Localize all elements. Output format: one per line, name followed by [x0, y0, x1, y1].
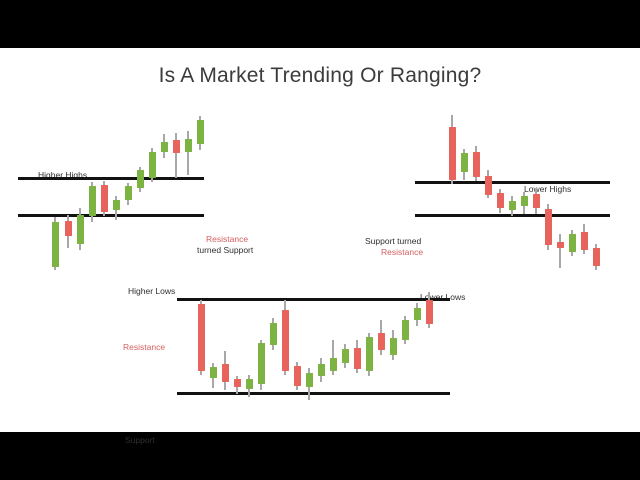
- candle-body-down: [497, 193, 504, 208]
- candle-wick: [559, 234, 561, 268]
- label-higher-lows: Higher Lows: [128, 286, 175, 296]
- candle-body-up: [390, 338, 397, 355]
- label-range-support: Support: [125, 435, 155, 445]
- candle-body-down: [354, 348, 361, 369]
- candle-body-down: [581, 232, 588, 250]
- candlestick: [149, 148, 156, 182]
- candlestick: [318, 358, 325, 382]
- level-line-range-support: [177, 392, 450, 395]
- candlestick: [294, 362, 301, 390]
- candle-body-up: [270, 323, 277, 345]
- letterbox-top: [0, 0, 640, 48]
- candlestick: [414, 303, 421, 326]
- candle-body-up: [318, 364, 325, 376]
- candle-body-down: [222, 364, 229, 382]
- candle-body-up: [210, 367, 217, 378]
- candle-body-down: [234, 379, 241, 387]
- candle-body-up: [330, 358, 337, 371]
- candlestick: [378, 320, 385, 355]
- page-title: Is A Market Trending Or Ranging?: [0, 64, 640, 88]
- label-resistance-uptrend: Resistance: [206, 234, 248, 244]
- candlestick: [545, 204, 552, 250]
- candle-body-down: [378, 333, 385, 350]
- candle-body-down: [485, 176, 492, 195]
- label-support-turned: Support turned: [365, 236, 421, 246]
- candlestick: [449, 115, 456, 184]
- candlestick: [185, 131, 192, 175]
- candlestick: [461, 149, 468, 180]
- candlestick: [282, 300, 289, 375]
- candlestick: [101, 181, 108, 216]
- candlestick: [197, 116, 204, 150]
- candlestick: [77, 208, 84, 250]
- candlestick: [593, 244, 600, 270]
- candlestick: [258, 340, 265, 390]
- candle-body-up: [414, 308, 421, 320]
- candle-body-up: [258, 343, 265, 384]
- candlestick: [52, 217, 59, 270]
- candlestick: [65, 215, 72, 248]
- candle-body-up: [521, 196, 528, 206]
- candlestick: [342, 344, 349, 368]
- candle-body-up: [77, 215, 84, 244]
- candle-body-up: [113, 200, 120, 210]
- candle-body-up: [306, 373, 313, 387]
- candle-body-down: [426, 300, 433, 324]
- label-lower-highs: Lower Highs: [524, 184, 571, 194]
- candle-body-up: [161, 142, 168, 152]
- candle-body-up: [342, 349, 349, 363]
- slide-canvas: Is A Market Trending Or Ranging? Higher …: [0, 48, 640, 432]
- candlestick: [113, 196, 120, 220]
- candle-body-up: [185, 139, 192, 152]
- candle-body-down: [533, 194, 540, 208]
- candle-body-up: [366, 337, 373, 371]
- candlestick: [222, 351, 229, 390]
- candlestick: [557, 234, 564, 268]
- label-range-resistance: Resistance: [123, 342, 165, 352]
- candlestick: [402, 316, 409, 344]
- candle-wick: [187, 131, 189, 175]
- candlestick: [137, 167, 144, 192]
- candle-body-up: [89, 186, 96, 216]
- label-resistance-downtrend: Resistance: [381, 247, 423, 257]
- candlestick: [125, 183, 132, 205]
- candle-body-up: [125, 186, 132, 200]
- candlestick: [234, 376, 241, 394]
- candle-body-down: [198, 304, 205, 371]
- candlestick: [509, 196, 516, 216]
- candle-body-down: [473, 152, 480, 177]
- candlestick: [270, 318, 277, 350]
- candlestick: [581, 224, 588, 254]
- candle-body-up: [246, 379, 253, 389]
- candle-body-down: [557, 242, 564, 248]
- candlestick: [354, 340, 361, 373]
- candle-body-down: [294, 366, 301, 386]
- candle-body-down: [173, 140, 180, 153]
- candle-body-up: [569, 234, 576, 252]
- candlestick: [366, 333, 373, 376]
- candlestick: [173, 133, 180, 178]
- candle-body-down: [545, 209, 552, 245]
- candle-body-down: [65, 221, 72, 236]
- label-turned-support: turned Support: [197, 245, 253, 255]
- candlestick: [569, 230, 576, 256]
- candlestick: [89, 182, 96, 222]
- candle-body-up: [137, 170, 144, 188]
- candle-body-up: [402, 320, 409, 340]
- candlestick: [161, 134, 168, 158]
- candle-body-down: [593, 248, 600, 266]
- candlestick: [497, 189, 504, 213]
- candlestick: [473, 146, 480, 181]
- candlestick: [246, 375, 253, 397]
- level-line-old-support-now-resistance-upper: [415, 181, 610, 184]
- letterbox-bottom: [0, 432, 640, 480]
- candle-body-up: [149, 152, 156, 178]
- candlestick: [521, 192, 528, 214]
- candlestick: [306, 368, 313, 400]
- candle-body-down: [449, 127, 456, 180]
- candle-body-up: [509, 201, 516, 210]
- candlestick: [198, 300, 205, 375]
- candle-body-down: [282, 310, 289, 371]
- candle-body-up: [461, 153, 468, 172]
- candlestick: [533, 188, 540, 214]
- candle-body-up: [52, 222, 59, 267]
- candlestick: [330, 340, 337, 375]
- candlestick: [390, 330, 397, 360]
- level-line-old-resistance-now-support-lower: [18, 214, 204, 217]
- candle-body-down: [101, 185, 108, 212]
- candlestick: [426, 292, 433, 328]
- candlestick: [485, 170, 492, 198]
- candle-body-up: [197, 120, 204, 144]
- level-line-range-resistance: [177, 298, 450, 301]
- candlestick: [210, 363, 217, 388]
